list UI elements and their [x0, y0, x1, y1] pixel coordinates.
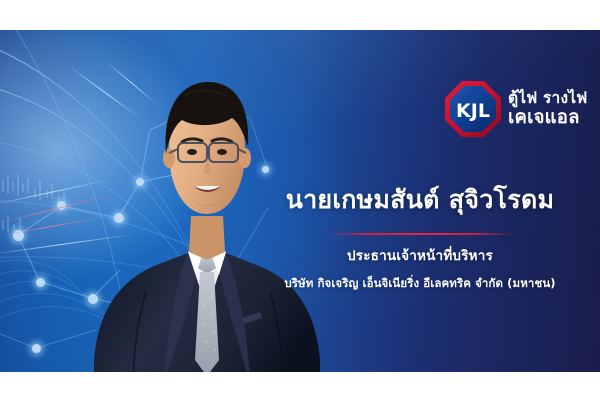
banner-image: KJL ตู้ไฟ รางไฟ เคเจแอล นายเกษมสันต์ สุจ…	[0, 0, 600, 400]
blue-banner-background: KJL ตู้ไฟ รางไฟ เคเจแอล นายเกษมสันต์ สุจ…	[0, 30, 600, 372]
kjl-logo-letters: KJL	[456, 100, 490, 122]
executive-role: ประธานเจ้าหน้าที่บริหาร	[250, 244, 590, 266]
kjl-octagon-svg: KJL	[444, 80, 502, 138]
network-node	[36, 278, 45, 287]
kjl-logo-wordmark: ตู้ไฟ รางไฟ เคเจแอล	[508, 91, 587, 128]
network-node	[32, 344, 41, 353]
kjl-logo[interactable]: KJL ตู้ไฟ รางไฟ เคเจแอล	[444, 76, 594, 142]
kjl-logo-octagon-mark: KJL	[444, 80, 502, 138]
company-name: บริษัท กิจเจริญ เอ็นจิเนียริ่ง อีเลคทริค…	[250, 275, 590, 293]
profile-text-block: นายเกษมสันต์ สุจิวโรดม ประธานเจ้าหน้าที่…	[250, 180, 590, 293]
logo-line-1: ตู้ไฟ รางไฟ	[508, 91, 587, 107]
logo-line-2: เคเจแอล	[508, 109, 587, 128]
red-divider	[327, 233, 513, 235]
executive-name: นายเกษมสันต์ สุจิวโรดม	[250, 180, 590, 220]
